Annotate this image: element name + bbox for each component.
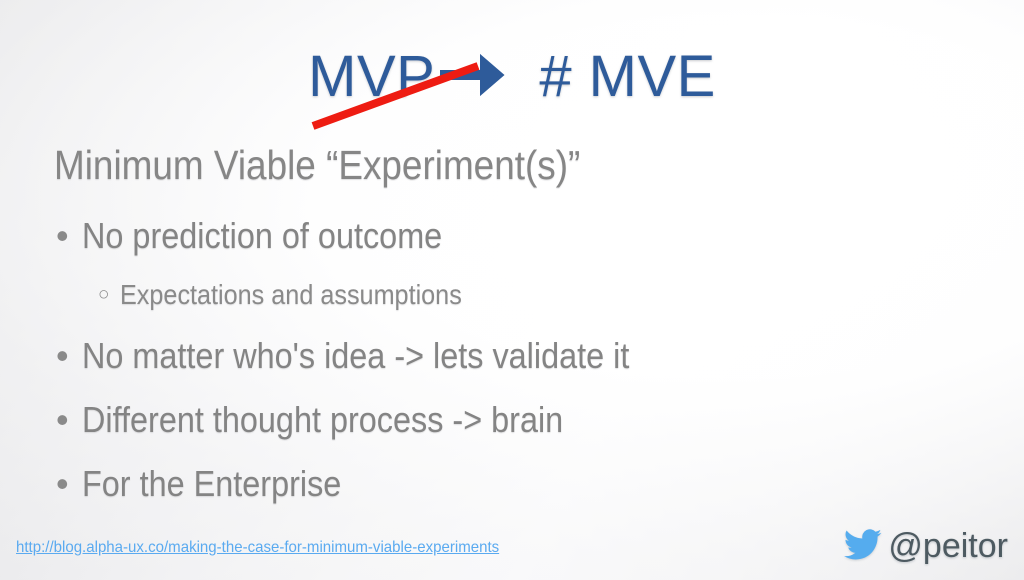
title-suffix: # MVE bbox=[539, 48, 716, 106]
source-url-link[interactable]: http://blog.alpha-ux.co/making-the-case-… bbox=[16, 539, 499, 557]
list-item: • For the Enterprise bbox=[52, 456, 982, 512]
title-struck-word: MVP bbox=[308, 48, 435, 106]
list-item-label: For the Enterprise bbox=[82, 456, 341, 512]
bullet-marker-icon: • bbox=[52, 328, 82, 384]
list-item: ○ Expectations and assumptions bbox=[52, 272, 982, 318]
list-item-label: Different thought process -> brain bbox=[82, 392, 563, 448]
right-arrow-icon bbox=[435, 47, 507, 108]
twitter-credit: @peitor bbox=[844, 528, 1008, 562]
slide-subtitle: Minimum Viable “Experiment(s)” bbox=[54, 142, 580, 189]
list-item: • No prediction of outcome bbox=[52, 208, 982, 264]
presentation-slide: MVP # MVE Minimum Viable “Experiment(s)”… bbox=[0, 0, 1024, 580]
twitter-bird-icon bbox=[844, 529, 882, 561]
bullet-list: • No prediction of outcome ○ Expectation… bbox=[52, 208, 982, 520]
bullet-marker-icon: • bbox=[52, 392, 82, 448]
slide-title: MVP # MVE bbox=[0, 46, 1024, 107]
sub-bullet-marker-icon: ○ bbox=[94, 272, 120, 318]
bullet-marker-icon: • bbox=[52, 456, 82, 512]
list-item-label: Expectations and assumptions bbox=[120, 272, 462, 318]
list-item: • Different thought process -> brain bbox=[52, 392, 982, 448]
list-item: • No matter who's idea -> lets validate … bbox=[52, 328, 982, 384]
list-item-label: No prediction of outcome bbox=[82, 208, 442, 264]
bullet-marker-icon: • bbox=[52, 208, 82, 264]
twitter-handle-label: @peitor bbox=[888, 529, 1008, 563]
list-item-label: No matter who's idea -> lets validate it bbox=[82, 328, 629, 384]
